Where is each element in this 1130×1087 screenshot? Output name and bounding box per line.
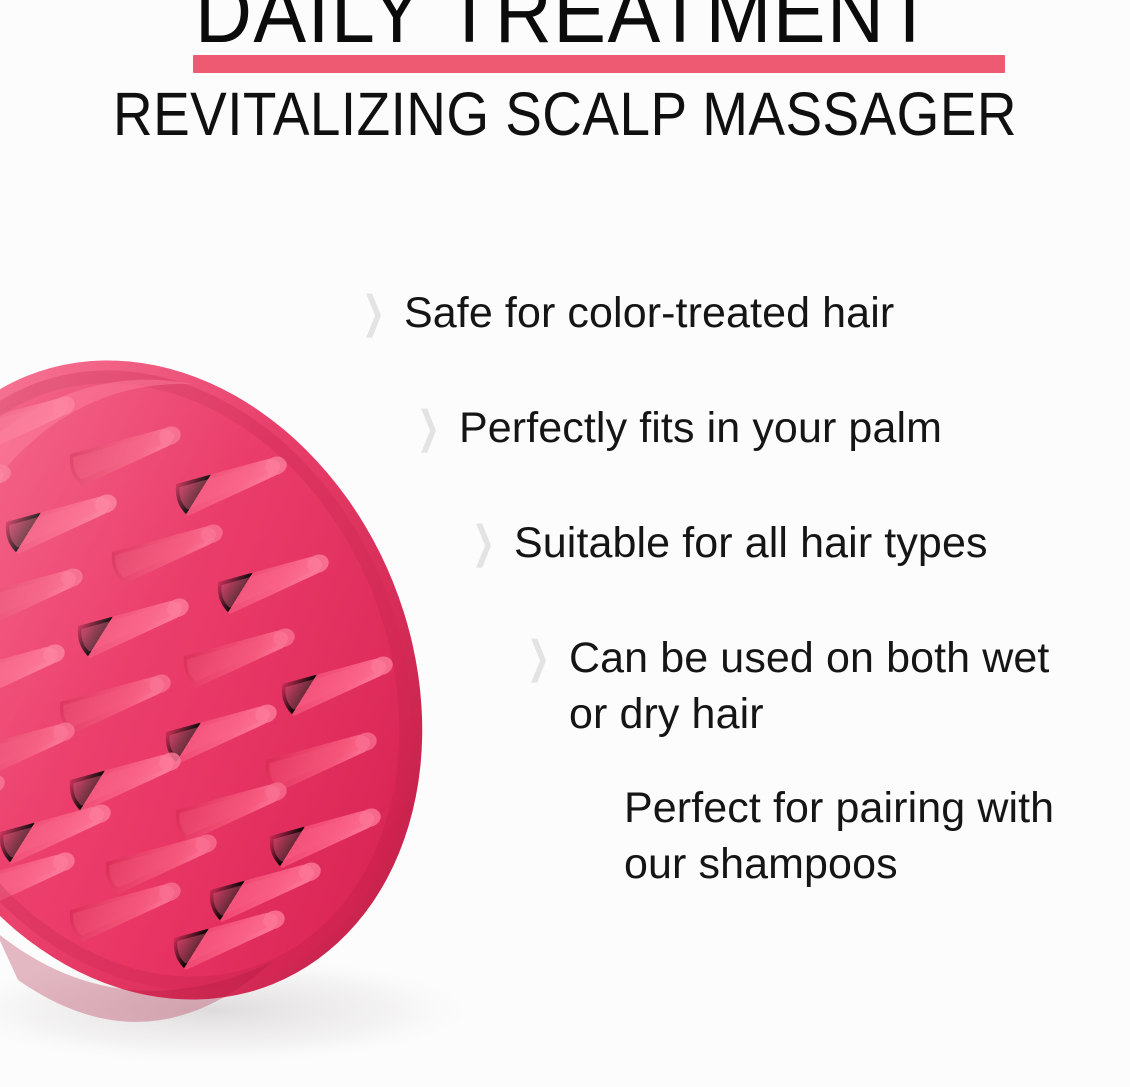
feature-item-label: Perfectly fits in your palm [459,400,942,456]
feature-item-label: Can be used on both wet or dry hair [569,630,1049,742]
feature-item-label: Perfect for pairing with our shampoos [624,780,1054,892]
title-block: DAILY TREATMENT [0,0,1130,78]
feature-item-3: ❯Suitable for all hair types [0,515,1130,571]
chevron-right-icon: ❯ [362,285,385,341]
product-shadow [0,952,490,1068]
feature-item-5: Perfect for pairing with our shampoos [0,780,1130,892]
feature-item-1: ❯Safe for color-treated hair [0,285,1130,341]
page-subtitle: REVITALIZING SCALP MASSAGER [57,84,1074,145]
chevron-right-icon: ❯ [472,515,495,571]
chevron-right-icon: ❯ [527,630,550,686]
page-title: DAILY TREATMENT [45,0,1085,56]
product-feature-banner: DAILY TREATMENT REVITALIZING SCALP MASSA… [0,0,1130,1087]
feature-item-label: Safe for color-treated hair [404,285,894,341]
feature-item-4: ❯Can be used on both wet or dry hair [0,630,1130,742]
chevron-right-icon: ❯ [417,400,440,456]
feature-item-label: Suitable for all hair types [514,515,988,571]
header: DAILY TREATMENT REVITALIZING SCALP MASSA… [0,0,1130,160]
feature-item-2: ❯Perfectly fits in your palm [0,400,1130,456]
